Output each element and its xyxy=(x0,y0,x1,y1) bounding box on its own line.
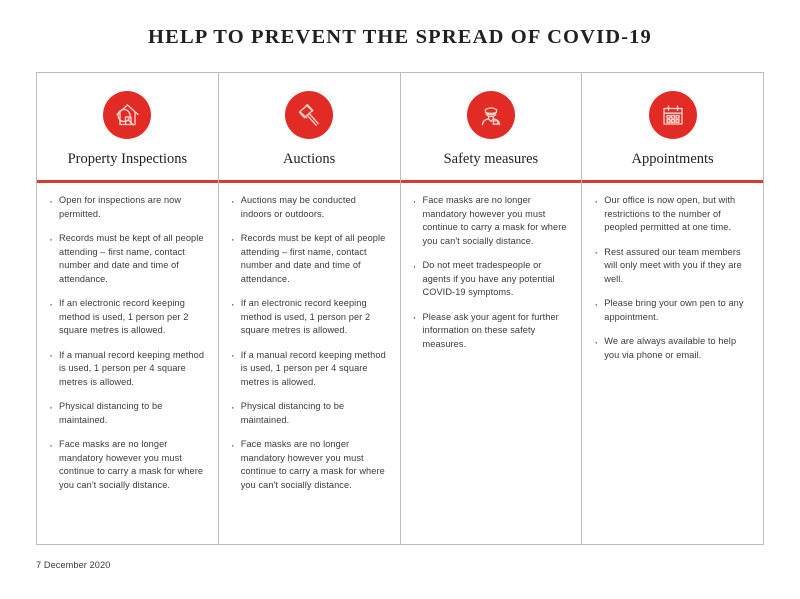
list-item: Please bring your own pen to any appoint… xyxy=(593,297,750,324)
column-header: Auctions xyxy=(219,73,400,180)
list-item: Face masks are no longer mandatory howev… xyxy=(230,438,387,492)
list-item: Open for inspections are now permitted. xyxy=(48,194,205,221)
column-safety-measures: Safety measures Face masks are no longer… xyxy=(401,73,583,544)
list-item: Do not meet tradespeople or agents if yo… xyxy=(412,259,569,300)
column-header: Safety measures xyxy=(401,73,582,180)
column-property-inspections: Property Inspections Open for inspection… xyxy=(37,73,219,544)
list-item: Face masks are no longer mandatory howev… xyxy=(412,194,569,248)
column-body: Open for inspections are now permitted. … xyxy=(37,183,218,544)
list-item: Physical distancing to be maintained. xyxy=(48,400,205,427)
column-title: Appointments xyxy=(632,152,714,167)
footer-date: 7 December 2020 xyxy=(36,560,110,570)
column-title: Property Inspections xyxy=(68,152,188,167)
covid-safety-infographic: HELP TO PREVENT THE SPREAD OF COVID-19 P… xyxy=(0,0,800,599)
masked-person-icon xyxy=(467,91,515,139)
column-header: Property Inspections xyxy=(37,73,218,180)
column-appointments: Appointments Our office is now open, but… xyxy=(582,73,763,544)
list-item: Please ask your agent for further inform… xyxy=(412,311,569,352)
list-item: If an electronic record keeping method i… xyxy=(48,297,205,338)
column-header: Appointments xyxy=(582,73,763,180)
bullet-list: Face masks are no longer mandatory howev… xyxy=(412,194,569,351)
guidance-table: Property Inspections Open for inspection… xyxy=(36,72,764,545)
list-item: Face masks are no longer mandatory howev… xyxy=(48,438,205,492)
calendar-icon xyxy=(649,91,697,139)
column-title: Auctions xyxy=(283,152,335,167)
bullet-list: Open for inspections are now permitted. … xyxy=(48,194,205,492)
column-auctions: Auctions Auctions may be conducted indoo… xyxy=(219,73,401,544)
list-item: Records must be kept of all people atten… xyxy=(48,232,205,286)
list-item: If a manual record keeping method is use… xyxy=(48,349,205,390)
column-body: Auctions may be conducted indoors or out… xyxy=(219,183,400,544)
page-title: HELP TO PREVENT THE SPREAD OF COVID-19 xyxy=(0,26,800,49)
list-item: If an electronic record keeping method i… xyxy=(230,297,387,338)
column-body: Our office is now open, but with restric… xyxy=(582,183,763,544)
list-item: We are always available to help you via … xyxy=(593,335,750,362)
list-item: Auctions may be conducted indoors or out… xyxy=(230,194,387,221)
list-item: Physical distancing to be maintained. xyxy=(230,400,387,427)
bullet-list: Our office is now open, but with restric… xyxy=(593,194,750,362)
house-magnifier-icon xyxy=(103,91,151,139)
bullet-list: Auctions may be conducted indoors or out… xyxy=(230,194,387,492)
list-item: Rest assured our team members will only … xyxy=(593,246,750,287)
column-body: Face masks are no longer mandatory howev… xyxy=(401,183,582,544)
list-item: Records must be kept of all people atten… xyxy=(230,232,387,286)
gavel-icon xyxy=(285,91,333,139)
list-item: Our office is now open, but with restric… xyxy=(593,194,750,235)
list-item: If a manual record keeping method is use… xyxy=(230,349,387,390)
column-title: Safety measures xyxy=(444,152,539,167)
